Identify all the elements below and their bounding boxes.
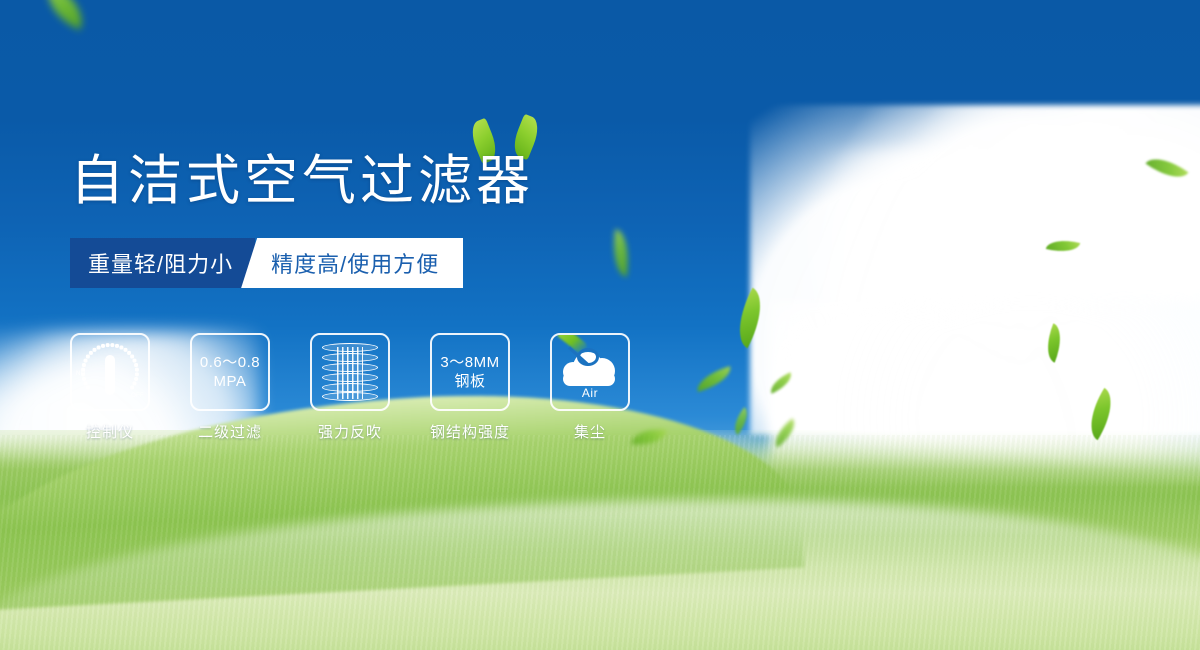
floating-leaf-icon <box>1146 149 1189 187</box>
floating-leaf-icon <box>1040 323 1068 362</box>
cumulus-cloud-icon <box>800 150 1030 450</box>
feature-item-dust-collection[interactable]: Air 集尘 <box>550 333 630 442</box>
hero-banner: 自洁式空气过滤器 重量轻/阻力小 精度高/使用方便 NO OFF 控制仪 0.6… <box>0 0 1200 650</box>
steel-plate-text-icon: 3～8MM 钢板 <box>440 353 499 391</box>
floating-leaf-icon <box>726 288 773 349</box>
cumulus-cloud-icon <box>750 105 1200 435</box>
feature-icon-box <box>310 333 390 411</box>
floating-leaf-icon <box>769 418 801 448</box>
feature-icon-box: 3～8MM 钢板 <box>430 333 510 411</box>
filter-stack-icon <box>322 343 378 401</box>
pressure-text-icon: 0.6～0.8 MPA <box>200 353 260 391</box>
floating-leaf-icon <box>631 426 667 447</box>
floating-leaf-icon <box>767 372 796 394</box>
feature-label: 二级过滤 <box>190 421 270 442</box>
page-title: 自洁式空气过滤器 <box>70 148 534 214</box>
floating-leaf-icon <box>38 0 92 30</box>
feature-label: 强力反吹 <box>310 421 390 442</box>
grass-field-icon <box>0 430 1200 650</box>
feature-item-two-stage-filter[interactable]: 0.6～0.8 MPA 二级过滤 <box>190 333 270 442</box>
feature-icon-box: 0.6～0.8 MPA <box>190 333 270 411</box>
gauge-on-label: NO <box>76 371 86 377</box>
gauge-dial-icon: NO OFF <box>77 341 143 403</box>
feature-item-steel-strength[interactable]: 3～8MM 钢板 钢结构强度 <box>430 333 510 442</box>
feature-icon-box: Air <box>550 333 630 411</box>
floating-leaf-icon <box>728 407 753 435</box>
subtitle-bar: 重量轻/阻力小 精度高/使用方便 <box>70 238 463 288</box>
floating-leaf-icon <box>1079 388 1123 440</box>
floating-leaf-icon <box>1046 235 1080 256</box>
feature-label: 钢结构强度 <box>430 421 510 442</box>
subtitle-left: 重量轻/阻力小 <box>70 238 255 288</box>
gauge-needle-icon <box>105 355 115 395</box>
floating-leaf-icon <box>694 366 735 392</box>
feature-item-control-gauge[interactable]: NO OFF 控制仪 <box>70 333 150 442</box>
feature-item-back-blow[interactable]: 强力反吹 <box>310 333 390 442</box>
gauge-off-label: OFF <box>131 393 144 399</box>
cumulus-cloud-icon <box>770 300 1200 560</box>
feature-label: 控制仪 <box>70 421 150 442</box>
floating-leaf-icon <box>609 229 633 277</box>
air-cloud-icon: Air <box>559 346 621 398</box>
air-label: Air <box>559 386 621 400</box>
grass-field-icon <box>0 435 1200 650</box>
subtitle-right: 精度高/使用方便 <box>241 238 463 288</box>
feature-list: NO OFF 控制仪 0.6～0.8 MPA 二级过滤 <box>70 333 630 442</box>
grass-field-icon <box>0 500 1200 650</box>
feature-label: 集尘 <box>550 421 630 442</box>
feature-icon-box: NO OFF <box>70 333 150 411</box>
